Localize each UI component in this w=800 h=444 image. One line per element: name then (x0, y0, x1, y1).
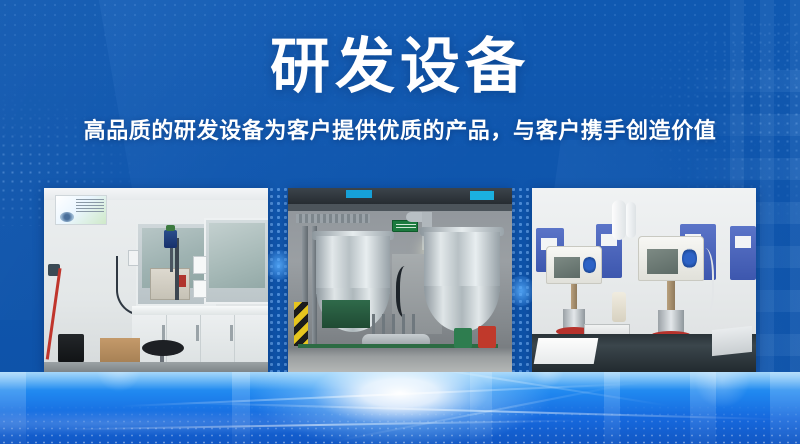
black-hose (396, 266, 418, 318)
photo-gallery (44, 188, 756, 372)
fume-hood-right (204, 218, 268, 304)
lab-power-outlet-2 (193, 280, 207, 298)
bench-paper (534, 338, 599, 364)
ceiling-tag-left (346, 190, 372, 198)
bench-laptop (712, 326, 752, 356)
viscometer-right (638, 236, 704, 342)
ceiling-beam-secondary (288, 204, 512, 211)
hazard-stripe-post (294, 302, 308, 346)
manifold-pipe (402, 314, 405, 336)
lab-bench-top (132, 306, 268, 315)
green-drum (454, 328, 472, 348)
gallery-photo-reactor-tanks[interactable] (288, 188, 512, 372)
bottom-light-band (0, 372, 800, 444)
lab-cabinets (132, 315, 268, 363)
instrument-lab-scene (532, 188, 756, 372)
lab-poster (55, 195, 107, 225)
lab-cabinet-handle (230, 325, 233, 341)
band-center-glow (250, 372, 550, 444)
manifold-pipe (392, 314, 395, 336)
lab-stool-seat (142, 340, 184, 356)
wall-tube-1 (612, 200, 626, 240)
viscometer-knob (682, 248, 698, 269)
lab-power-outlet-1 (193, 256, 207, 274)
viscometer-sample-cup (658, 310, 684, 333)
manifold-pipe (412, 314, 415, 336)
ceiling-tag-right (470, 191, 494, 200)
green-window (322, 300, 370, 328)
red-drum (478, 326, 496, 348)
lab-power-unit (150, 268, 190, 300)
lab-cabinet-handle (196, 325, 199, 341)
lab-poster-text-lines (76, 199, 104, 212)
banner-header: 研发设备 高品质的研发设备为客户提供优质的产品，与客户携手创造价值 (0, 0, 800, 145)
reactor-tank-body (424, 232, 500, 292)
wall-tube-2 (626, 202, 636, 238)
fume-hood-right-glass (209, 223, 265, 288)
lab-cabinet-divider (200, 315, 201, 363)
viscometer-display (647, 249, 677, 274)
flex-duct (296, 214, 370, 223)
viscometer-display (554, 257, 580, 279)
lab-mixer-motor (164, 230, 177, 248)
page-title: 研发设备 (0, 36, 800, 97)
viscometer-left (546, 246, 602, 336)
reactor-tank-right (424, 232, 500, 332)
workshop-floor (288, 348, 512, 372)
lab-waste-bin (58, 334, 84, 364)
lab-wall-switch (128, 250, 139, 266)
reactor-tank-body (316, 236, 390, 294)
lab-cabinet-divider (234, 315, 235, 363)
page-subtitle: 高品质的研发设备为客户提供优质的产品，与客户携手创造价值 (0, 113, 800, 145)
reagent-bottle (612, 292, 626, 322)
lab-cabinet-handle (162, 325, 165, 341)
gallery-photo-laboratory[interactable] (44, 188, 268, 372)
manifold-pipe (382, 314, 385, 336)
manifold-pipe (372, 314, 375, 336)
wall-panel-4 (730, 226, 756, 280)
reactor-workshop-scene (288, 188, 512, 372)
lab-floor (44, 362, 268, 372)
banner: 研发设备 高品质的研发设备为客户提供优质的产品，与客户携手创造价值 (0, 0, 800, 444)
laboratory-scene (44, 188, 268, 372)
lab-mixer-rod (170, 246, 173, 272)
viscometer-sample-cup (563, 309, 585, 329)
gallery-photo-instruments[interactable] (532, 188, 756, 372)
lab-mixer-cap (166, 225, 175, 231)
